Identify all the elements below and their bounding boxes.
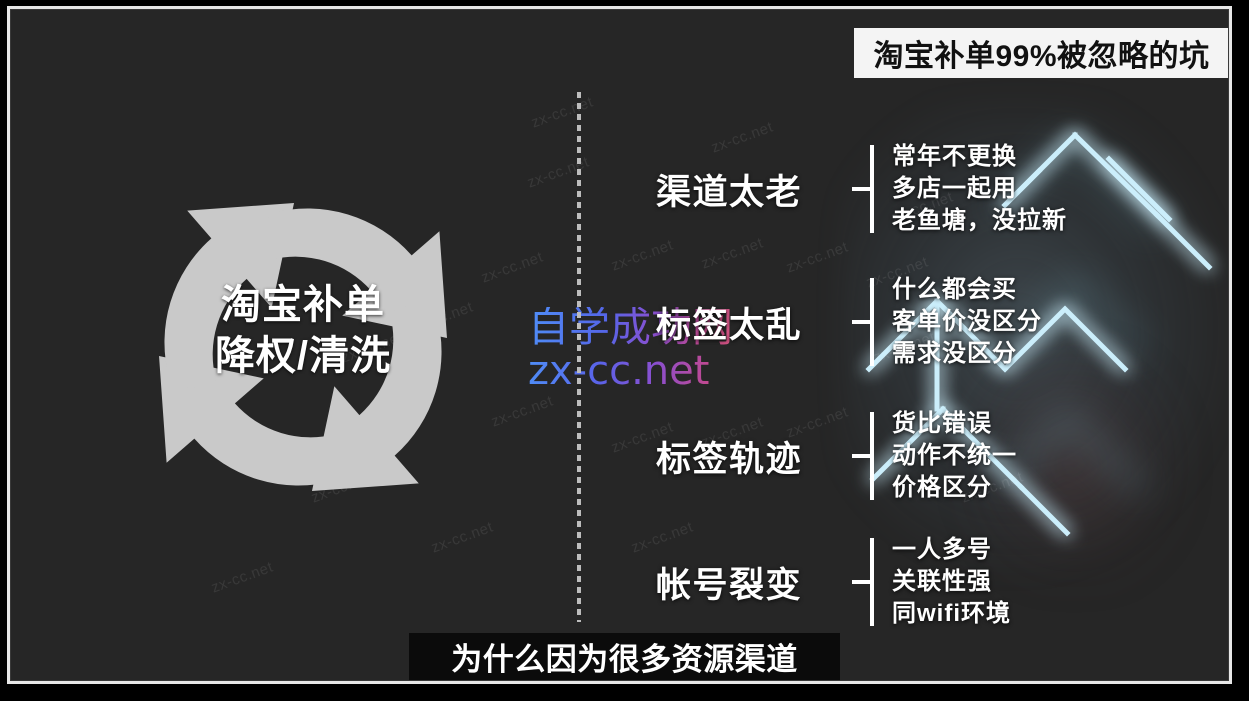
issue-detail-line: 什么都会买 xyxy=(892,274,1042,306)
slide-root: zx-cc.netzx-cc.netzx-cc.netzx-cc.netzx-c… xyxy=(0,0,1249,701)
issue-row-details: 货比错误 动作不统一 价格区分 xyxy=(892,408,1017,503)
issue-row-label: 标签轨迹 xyxy=(610,431,848,482)
slide-canvas: zx-cc.netzx-cc.netzx-cc.netzx-cc.netzx-c… xyxy=(10,9,1229,681)
issue-row-details: 一人多号 关联性强 同wifi环境 xyxy=(892,534,1011,629)
bracket-icon xyxy=(852,408,880,504)
issue-detail-line: 需求没区分 xyxy=(892,338,1042,370)
issue-row-label: 标签太乱 xyxy=(610,297,848,348)
page-title: 淘宝补单99%被忽略的坑 xyxy=(873,31,1209,75)
header-title-plate: 淘宝补单99%被忽略的坑 xyxy=(854,28,1229,78)
issue-detail-line: 动作不统一 xyxy=(892,440,1017,472)
issue-detail-line: 客单价没区分 xyxy=(892,306,1042,338)
watermark-tile: zx-cc.net xyxy=(529,93,595,131)
issue-detail-line: 多店一起用 xyxy=(892,173,1067,205)
bracket-tick xyxy=(852,320,874,324)
bracket-icon xyxy=(852,534,880,630)
issue-detail-line: 货比错误 xyxy=(892,408,1017,440)
issue-detail-line: 一人多号 xyxy=(892,534,1011,566)
bracket-icon xyxy=(852,274,880,370)
issue-row: 标签轨迹 货比错误 动作不统一 价格区分 xyxy=(610,401,1229,511)
vertical-dotted-divider xyxy=(577,92,581,622)
subtitle-caption-text: 为什么因为很多资源渠道 xyxy=(451,634,798,679)
issue-row-label: 帐号裂变 xyxy=(610,557,848,608)
issue-detail-line: 常年不更换 xyxy=(892,141,1067,173)
bracket-tick xyxy=(852,187,874,191)
watermark-tile: zx-cc.net xyxy=(489,392,555,430)
cycle-center-label-line1: 淘宝补单 xyxy=(108,280,498,331)
bracket-icon xyxy=(852,141,880,237)
cycle-center-label: 淘宝补单 降权/清洗 xyxy=(108,280,498,382)
cycle-center-label-line2: 降权/清洗 xyxy=(108,331,498,382)
issue-rows: 渠道太老 常年不更换 多店一起用 老鱼塘，没拉新 标签太乱 xyxy=(610,9,1229,681)
issue-detail-line: 关联性强 xyxy=(892,566,1011,598)
issue-row: 帐号裂变 一人多号 关联性强 同wifi环境 xyxy=(610,527,1229,637)
issue-row-details: 常年不更换 多店一起用 老鱼塘，没拉新 xyxy=(892,141,1067,236)
issue-detail-line: 价格区分 xyxy=(892,472,1017,504)
issue-row: 标签太乱 什么都会买 客单价没区分 需求没区分 xyxy=(610,267,1229,377)
cycle-diagram: 淘宝补单 降权/清洗 xyxy=(108,152,498,542)
watermark-tile: zx-cc.net xyxy=(525,153,591,191)
issue-row-label: 渠道太老 xyxy=(610,164,848,215)
issue-detail-line: 同wifi环境 xyxy=(892,598,1011,630)
subtitle-caption-bar: 为什么因为很多资源渠道 xyxy=(409,633,840,680)
issue-row: 渠道太老 常年不更换 多店一起用 老鱼塘，没拉新 xyxy=(610,134,1229,244)
issue-row-details: 什么都会买 客单价没区分 需求没区分 xyxy=(892,274,1042,369)
bracket-tick xyxy=(852,454,874,458)
watermark-tile: zx-cc.net xyxy=(209,558,275,596)
issue-detail-line: 老鱼塘，没拉新 xyxy=(892,205,1067,237)
bracket-tick xyxy=(852,580,874,584)
